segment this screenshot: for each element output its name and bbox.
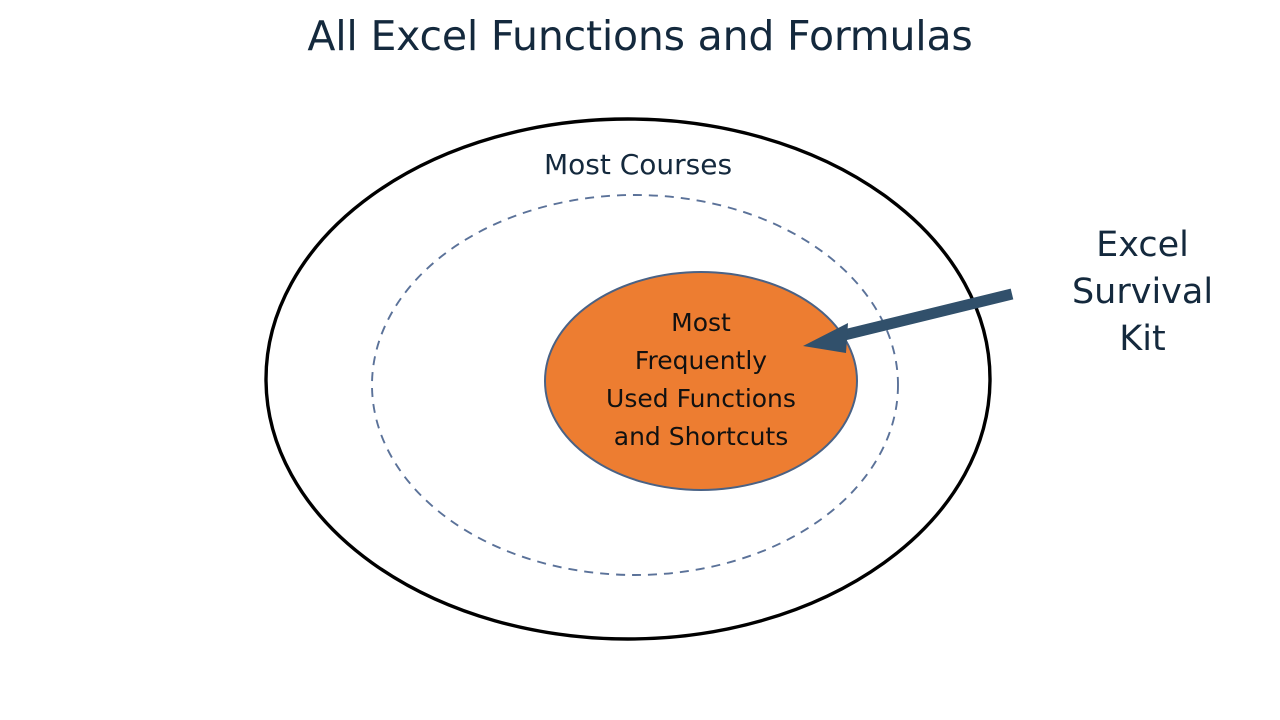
callout-label-line-3: Kit	[1020, 316, 1265, 363]
core-label-line-4: and Shortcuts	[551, 418, 851, 456]
core-label-line-3: Used Functions	[551, 380, 851, 418]
page-title: All Excel Functions and Formulas	[0, 12, 1280, 60]
callout-label: Excel Survival Kit	[1020, 222, 1265, 363]
slide-canvas: All Excel Functions and Formulas Most Co…	[0, 0, 1280, 720]
core-ellipse-label: Most Frequently Used Functions and Short…	[551, 304, 851, 456]
callout-label-line-1: Excel	[1020, 222, 1265, 269]
core-label-line-2: Frequently	[551, 342, 851, 380]
outer-ring-label: Most Courses	[468, 148, 808, 181]
core-label-line-1: Most	[551, 304, 851, 342]
callout-label-line-2: Survival	[1020, 269, 1265, 316]
